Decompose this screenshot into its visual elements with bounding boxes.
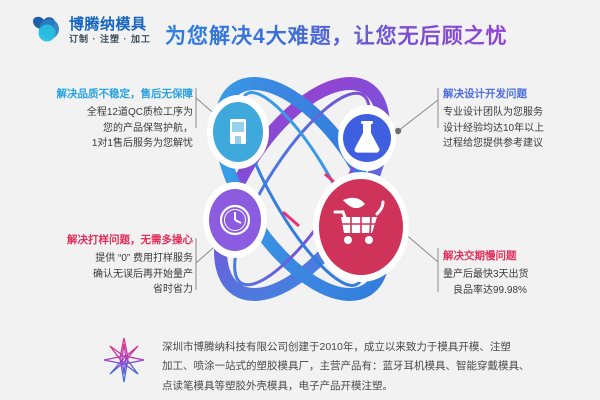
poster-canvas: 博腾纳模具 订制 · 注塑 · 加工 为您解决4大难题，让您无后顾之忧 [0,0,600,400]
callout-design-title: 解决设计开发问题 [443,86,600,101]
callout-design-line-3: 过程给您提供参考建议 [443,136,600,152]
callout-design: 解决设计开发问题 专业设计团队为您服务 设计经验均达10年以上 过程给您提供参考… [443,86,600,152]
brand-tagline: 订制 · 注塑 · 加工 [69,35,151,44]
brand-logo[interactable]: 博腾纳模具 订制 · 注塑 · 加工 [30,14,151,46]
callout-sample-line-2: 确认无误后再开始量产 [8,267,193,283]
compass-star-icon [96,330,152,390]
callout-delivery-line-2: 良品率达99.98% [443,283,600,299]
company-intro-line-1: 深圳市博腾纳科技有限公司创建于2010年，成立以来致力于模具开模、注塑 [162,338,530,357]
company-intro: 深圳市博腾纳科技有限公司创建于2010年，成立以来致力于模具开模、注塑 加工、喷… [96,330,596,396]
node-factory [207,95,269,169]
callout-quality-line-3: 1对1售后服务为您解忧 [18,136,193,152]
callout-quality-title: 解决品质不稳定，售后无保障 [18,86,193,101]
callout-quality-line-1: 全程12道QC质检工序为 [18,105,193,121]
node-flask [338,105,396,171]
company-intro-line-2: 加工、喷涂一站式的塑胶模具厂，主营产品有：蓝牙耳机模具、智能穿戴模具、 [162,357,530,376]
crossing-orbit-ribbons [175,62,430,317]
brand-name: 博腾纳模具 [69,17,151,32]
callout-delivery: 解决交期慢问题 量产后最快3天出货 良品率达99.98% [443,248,600,298]
company-intro-line-3: 点读笔模具等塑胶外壳模具，电子产品开模注塑。 [162,377,530,396]
node-clock [203,182,267,258]
callout-sample-title: 解决打样问题，无需多操心 [8,232,193,247]
callout-quality: 解决品质不稳定，售后无保障 全程12道QC质检工序为 您的产品保驾护航， 1对1… [18,86,193,152]
butterfly-cloud-logo-mark [30,14,64,46]
page-headline: 为您解决4大难题，让您无后顾之忧 [165,20,508,50]
callout-sample: 解决打样问题，无需多操心 提供 “0” 费用打样服务 确认无误后再开始量产 省时… [8,232,193,298]
callout-delivery-title: 解决交期慢问题 [443,248,600,263]
callout-sample-line-3: 省时省力 [8,282,193,298]
callout-design-line-1: 专业设计团队为您服务 [443,105,600,121]
callout-sample-line-1: 提供 “0” 费用打样服务 [8,251,193,267]
callout-delivery-line-1: 量产后最快3天出货 [443,267,600,283]
callout-quality-line-2: 您的产品保驾护航， [18,121,193,137]
node-cart [313,172,409,282]
callout-design-line-2: 设计经验均达10年以上 [443,121,600,137]
